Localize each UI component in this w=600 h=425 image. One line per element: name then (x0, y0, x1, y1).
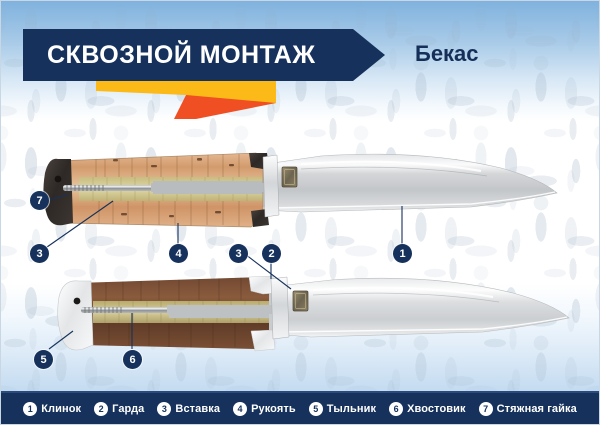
legend-item-4[interactable]: 4Рукоять (233, 402, 296, 416)
legend-item-2[interactable]: 2Гарда (94, 402, 144, 416)
callout-marker-3-3[interactable]: 3 (229, 244, 248, 263)
legend-bar: 1Клинок2Гарда3Вставка4Рукоять5Тыльник6Хв… (1, 391, 599, 424)
callout-marker-3-1[interactable]: 3 (30, 244, 49, 263)
legend-label: Гарда (112, 403, 144, 415)
legend-item-6[interactable]: 6Хвостовик (389, 402, 466, 416)
legend-label: Тыльник (327, 403, 376, 415)
legend-label: Хвостовик (407, 403, 466, 415)
legend-item-3[interactable]: 3Вставка (157, 402, 220, 416)
legend-number-badge: 3 (157, 402, 171, 416)
legend-label: Клинок (41, 403, 81, 415)
knives-illustration (1, 1, 599, 424)
callout-marker-6-7[interactable]: 6 (123, 350, 142, 369)
legend-item-5[interactable]: 5Тыльник (309, 402, 376, 416)
callout-marker-1-5[interactable]: 1 (393, 244, 412, 263)
legend-number-badge: 4 (233, 402, 247, 416)
top-knife (43, 150, 557, 231)
legend-label: Рукоять (251, 403, 296, 415)
callout-marker-4-2[interactable]: 4 (169, 244, 188, 263)
legend-number-badge: 5 (309, 402, 323, 416)
callout-marker-2-4[interactable]: 2 (262, 244, 281, 263)
legend-item-1[interactable]: 1Клинок (23, 402, 81, 416)
legend-label: Вставка (175, 403, 220, 415)
bottom-knife (58, 273, 569, 353)
legend-number-badge: 7 (479, 402, 493, 416)
callout-marker-7-0[interactable]: 7 (30, 191, 49, 210)
legend-label: Стяжная гайка (497, 403, 577, 415)
legend-number-badge: 2 (94, 402, 108, 416)
legend-item-7[interactable]: 7Стяжная гайка (479, 402, 577, 416)
legend-number-badge: 1 (23, 402, 37, 416)
legend-number-badge: 6 (389, 402, 403, 416)
callout-marker-5-6[interactable]: 5 (34, 350, 53, 369)
poster-root: СКВОЗНОЙ МОНТАЖ Бекас (0, 0, 600, 425)
